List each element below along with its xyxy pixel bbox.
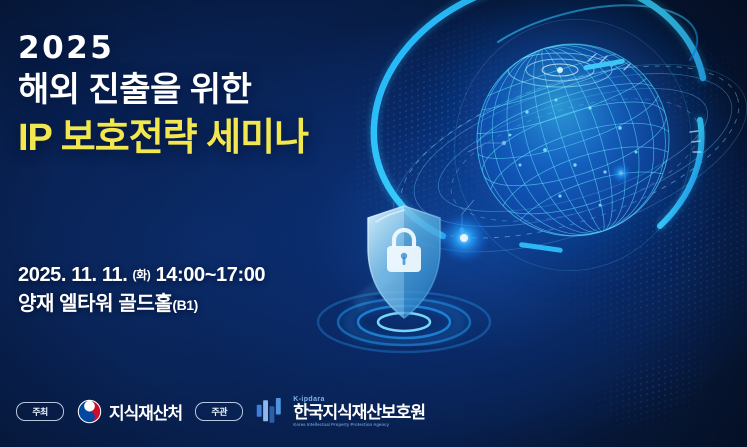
arc-marker-bar — [583, 58, 625, 70]
organizer-role-badge: 주관 — [195, 402, 243, 421]
taegeuk-icon — [77, 399, 102, 424]
globe-ambient-glow — [413, 0, 733, 293]
event-date: 2025. 11. 11. — [18, 264, 127, 286]
dot-matrix-world-map — [560, 115, 747, 415]
organizer-name: 한국지식재산보호원 — [293, 404, 425, 421]
event-info-block: 2025. 11. 11. (화) 14:00~17:00 양재 엘타워 골드홀… — [18, 262, 265, 318]
light-streak — [352, 268, 398, 310]
globe-pole-highlight — [508, 53, 612, 87]
poster-year: 2025 — [18, 33, 418, 64]
dot-matrix-world-map — [590, 334, 747, 447]
kipra-bars-icon — [256, 398, 286, 425]
wireframe-globe-icon — [456, 20, 704, 291]
shield-lock-icon — [368, 206, 440, 318]
host-org: 지식재산처 — [77, 399, 182, 424]
organizer-text-block: K-ipdara 한국지식재산보호원 Korea Intellectual Pr… — [293, 396, 425, 427]
globe-node-dots — [509, 99, 638, 207]
padlock-icon — [387, 230, 421, 272]
glow-node-core — [460, 234, 468, 242]
organizer-org: K-ipdara 한국지식재산보호원 Korea Intellectual Pr… — [256, 396, 425, 427]
footer-logos: 주최 지식재산처 주관 K-ipdara 한국지식재산보호원 Korea Int… — [16, 396, 425, 427]
organizer-brand: K-ipdara — [293, 396, 425, 403]
event-venue: 양재 엘타워 골드홀 — [18, 293, 172, 315]
orbit-ring-dashed — [381, 31, 747, 273]
seminar-poster: 2025 해외 진출을 위한 IP 보호전략 세미나 2025. 11. 11.… — [0, 0, 747, 447]
arc-tick-marks — [588, 54, 701, 152]
arc-marker-bar — [519, 242, 563, 253]
callout-lines — [459, 141, 506, 233]
event-venue-floor: (B1) — [172, 297, 198, 313]
event-weekday: (화) — [133, 268, 151, 282]
orbital-arc-icon — [374, 0, 703, 236]
event-time: 14:00~17:00 — [156, 264, 266, 286]
glow-node-light — [438, 212, 490, 264]
event-date-line: 2025. 11. 11. (화) 14:00~17:00 — [18, 262, 265, 289]
organizer-subtitle: Korea Intellectual Property Protection A… — [293, 423, 425, 427]
ripple-rings-icon — [318, 292, 490, 352]
poster-headline: 해외 진출을 위한 — [18, 71, 418, 109]
host-org-name: 지식재산처 — [109, 399, 182, 424]
poster-subhead: IP 보호전략 세미나 — [18, 118, 418, 160]
orbit-ring-lines — [370, 0, 747, 293]
dot-matrix-world-map — [600, 11, 747, 178]
title-block: 2025 해외 진출을 위한 IP 보호전략 세미나 — [18, 33, 418, 160]
event-venue-line: 양재 엘타워 골드홀(B1) — [18, 291, 265, 318]
host-role-badge: 주최 — [16, 402, 64, 421]
